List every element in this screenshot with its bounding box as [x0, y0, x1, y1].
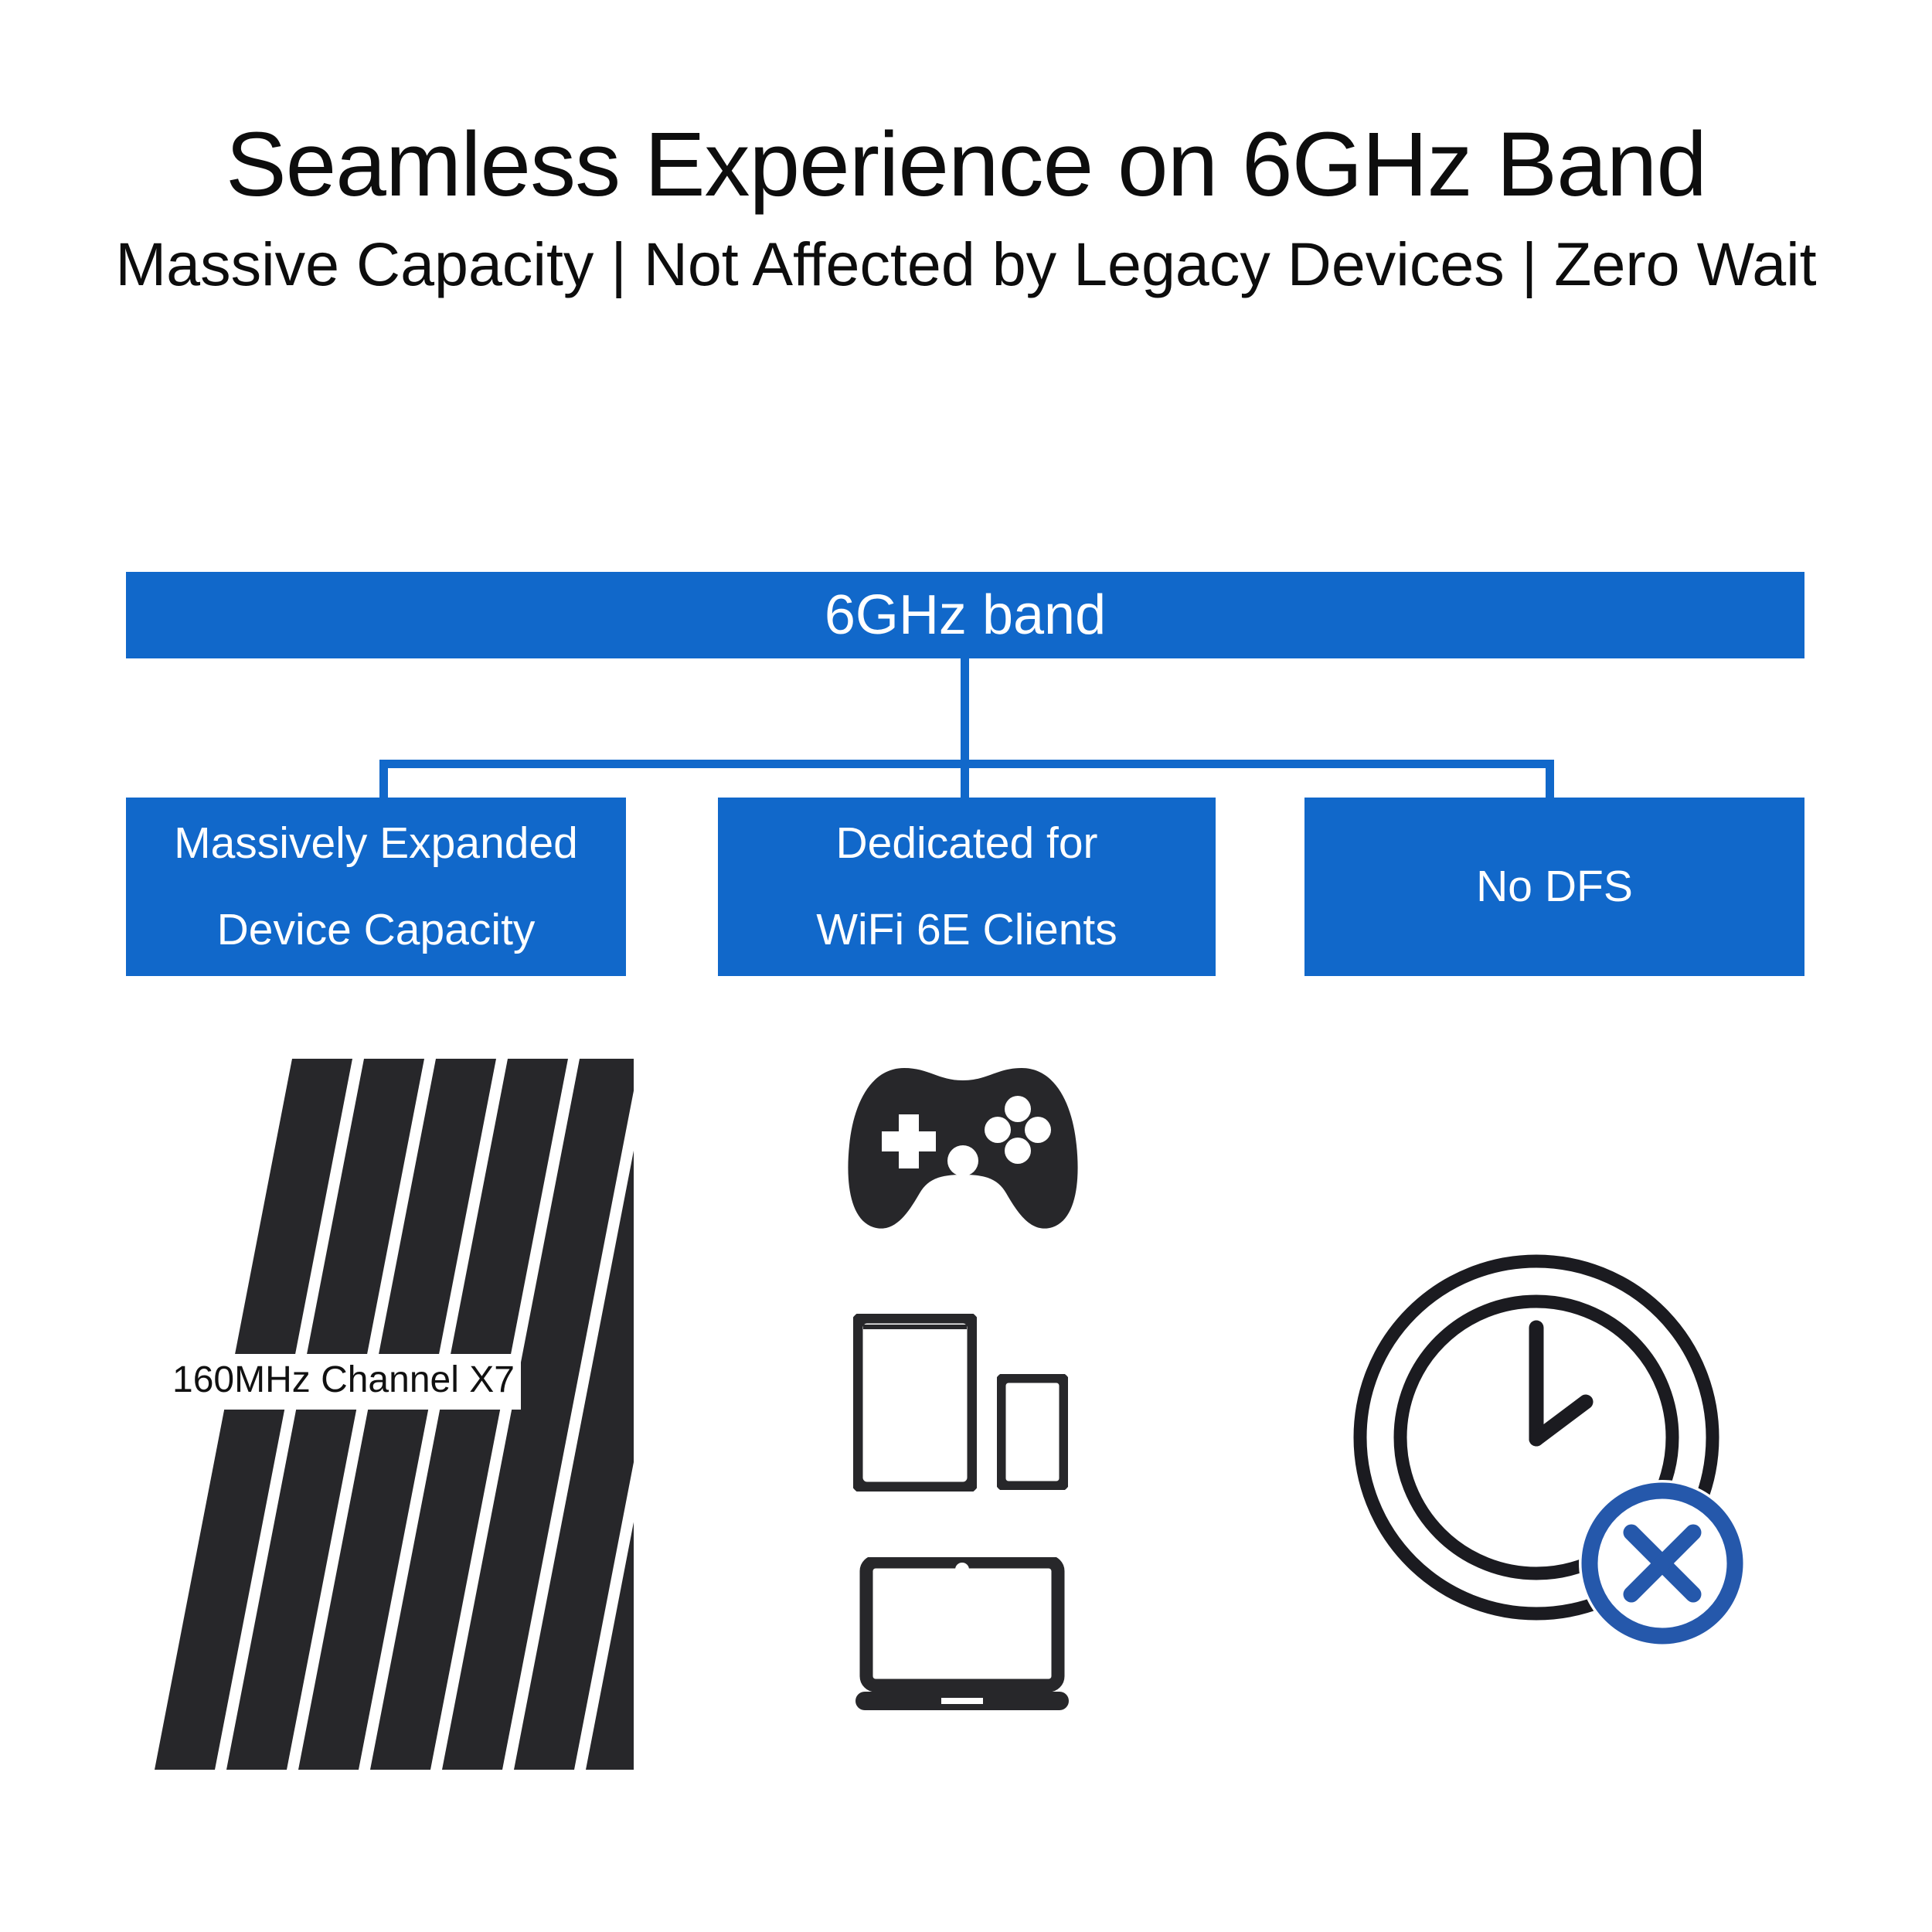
channel-capacity-label: 160MHz Channel X7 [166, 1354, 521, 1410]
diagram-node-root-label: 6GHz band [825, 587, 1106, 643]
channels-illustration: 160MHz Channel X7 [93, 1059, 634, 1770]
connector-left-drop [379, 760, 388, 798]
diagram-node-capacity[interactable]: Massively Expanded Device Capacity [126, 798, 626, 976]
clock-illustration [1345, 1252, 1777, 1654]
devices-illustration [819, 1059, 1144, 1770]
phone-icon [997, 1374, 1068, 1490]
diagram-node-dfs[interactable]: No DFS [1304, 798, 1804, 976]
clock-icon [1345, 1252, 1762, 1646]
connector-right-drop [1546, 760, 1554, 798]
slanted-channel-bars-icon [93, 1059, 634, 1770]
diagram-node-dfs-line1: No DFS [1476, 864, 1633, 910]
laptop-icon [854, 1557, 1070, 1712]
diagram-node-capacity-line2: Device Capacity [217, 907, 536, 954]
diagram-node-root[interactable]: 6GHz band [126, 572, 1804, 658]
diagram-node-clients-line2: WiFi 6E Clients [816, 907, 1117, 954]
diagram-node-capacity-line1: Massively Expanded [174, 821, 578, 867]
tablet-icon [853, 1314, 977, 1492]
gamepad-icon [839, 1060, 1087, 1238]
diagram-node-clients[interactable]: Dedicated for WiFi 6E Clients [718, 798, 1216, 976]
connector-root-stem [961, 658, 969, 760]
connector-middle-drop [961, 760, 969, 798]
diagram-node-clients-line1: Dedicated for [835, 821, 1097, 867]
